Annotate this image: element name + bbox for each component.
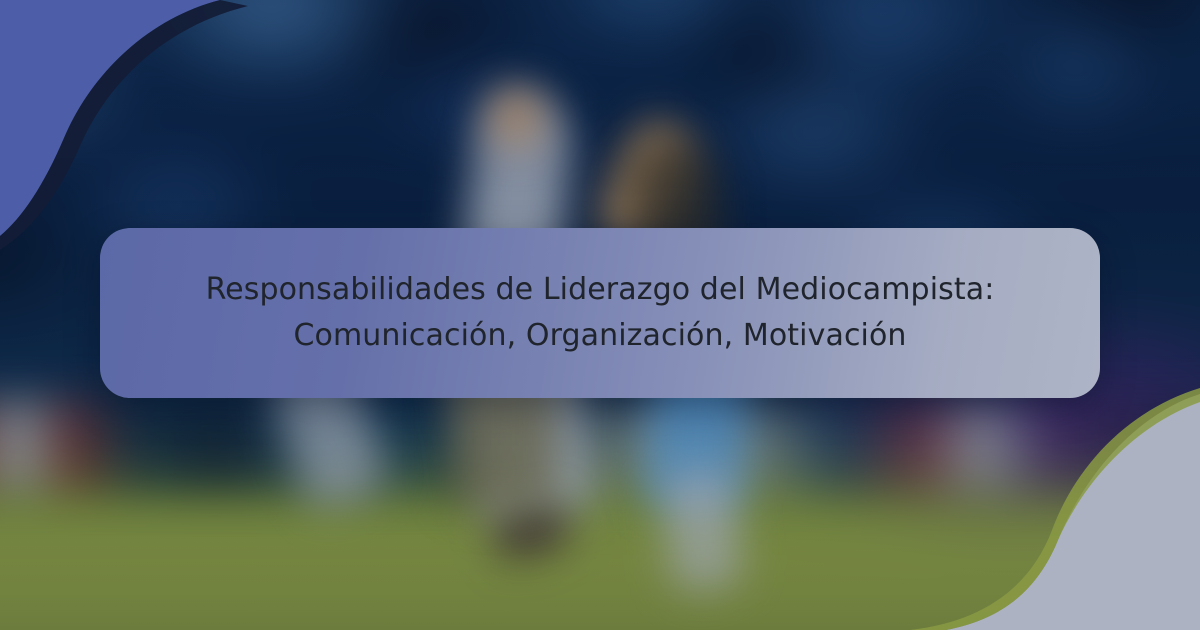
headline-line-2: Comunicación, Organización, Motivación xyxy=(140,313,1060,359)
player-silhouette-two-legs xyxy=(660,467,744,594)
headline-line-1: Responsabilidades de Liderazgo del Medio… xyxy=(206,272,995,307)
advertising-boards-band xyxy=(0,400,1200,490)
headline-card: Responsabilidades de Liderazgo del Medio… xyxy=(100,228,1100,398)
player-silhouette-one-head xyxy=(487,86,545,148)
banner-canvas: Responsabilidades de Liderazgo del Medio… xyxy=(0,0,1200,630)
page-title: Responsabilidades de Liderazgo del Medio… xyxy=(100,267,1100,359)
